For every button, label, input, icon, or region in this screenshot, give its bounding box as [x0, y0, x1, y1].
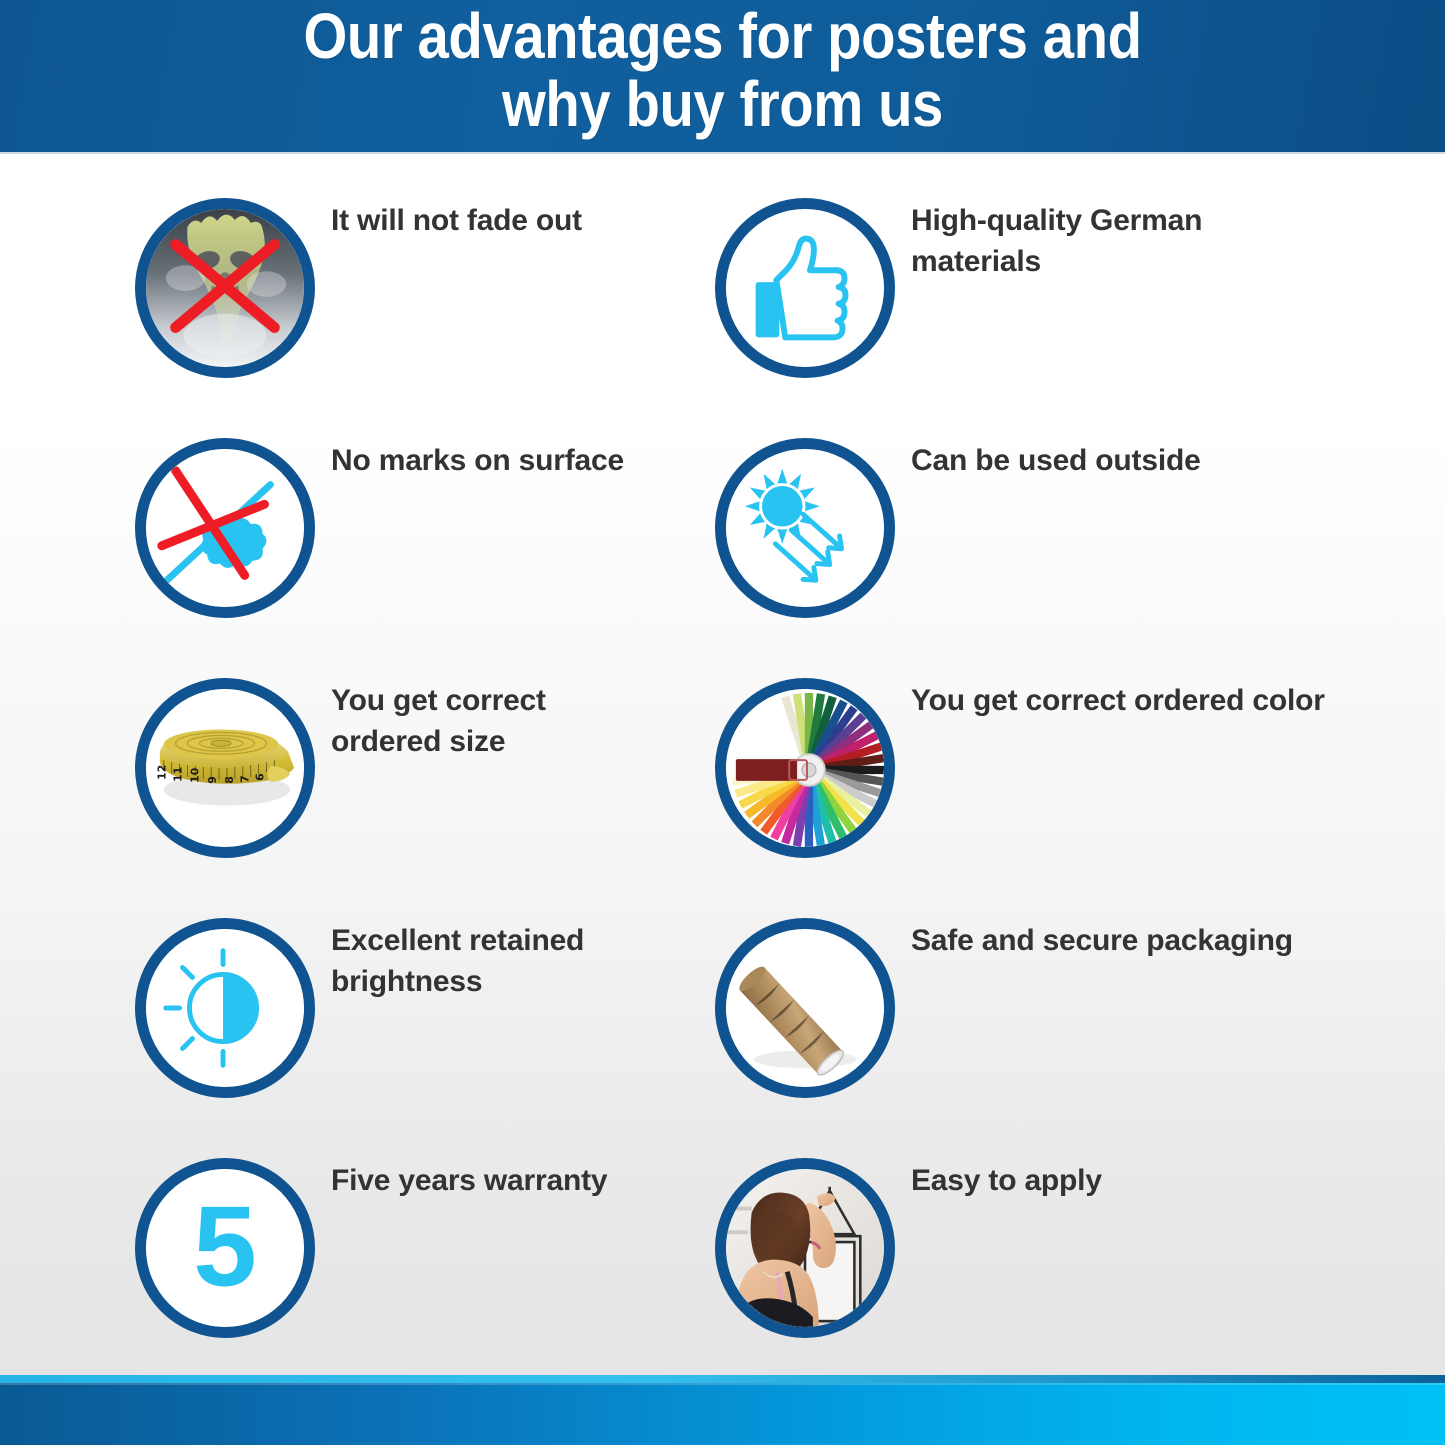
- features-grid: It will not fade out High-quality German…: [0, 152, 1445, 1375]
- feature-label: Safe and secure packaging: [911, 920, 1331, 961]
- feature-item-outside[interactable]: Can be used outside: [715, 428, 1315, 668]
- svg-text:9: 9: [206, 776, 219, 784]
- footer-banner: [0, 1375, 1445, 1445]
- sun-rays-icon: [715, 438, 895, 618]
- measuring-tape-icon: 12 11 10 9 8 7 6: [135, 678, 315, 858]
- footer-hairline: [0, 1383, 1445, 1385]
- feature-item-easy-apply[interactable]: Easy to apply: [715, 1148, 1315, 1388]
- feature-label: High-quality German materials: [911, 200, 1331, 282]
- feature-item-color[interactable]: You get correct ordered color: [715, 668, 1315, 908]
- page-title: Our advantages for posters and why buy f…: [87, 2, 1359, 138]
- header-banner: Our advantages for posters and why buy f…: [0, 0, 1445, 152]
- svg-text:12: 12: [156, 765, 169, 780]
- feature-row: No marks on surface: [0, 428, 1445, 668]
- mailing-tube-icon: [715, 918, 895, 1098]
- feature-item-fade[interactable]: It will not fade out: [135, 188, 735, 428]
- feature-item-warranty[interactable]: 5 Five years warranty: [135, 1148, 735, 1388]
- feature-label: Easy to apply: [911, 1160, 1331, 1201]
- feature-row: Excellent retained brightness: [0, 908, 1445, 1148]
- footer-top-strip: [0, 1375, 1445, 1383]
- feature-label: It will not fade out: [331, 200, 731, 241]
- feature-label: Excellent retained brightness: [331, 920, 731, 1002]
- feature-item-no-marks[interactable]: No marks on surface: [135, 428, 735, 668]
- svg-text:5: 5: [193, 1183, 257, 1311]
- svg-text:7: 7: [239, 775, 252, 783]
- svg-text:10: 10: [188, 767, 201, 783]
- faded-skull-smoke-crossed-out-icon: [135, 198, 315, 378]
- feature-row: It will not fade out High-quality German…: [0, 188, 1445, 428]
- woman-hanging-poster-photo-icon: [715, 1158, 895, 1338]
- feature-item-brightness[interactable]: Excellent retained brightness: [135, 908, 735, 1148]
- thumbs-up-icon: [715, 198, 895, 378]
- svg-text:6: 6: [254, 773, 267, 781]
- feature-label: You get correct ordered size: [331, 680, 731, 762]
- feature-label: Five years warranty: [331, 1160, 731, 1201]
- feature-item-size[interactable]: 12 11 10 9 8 7 6 You get correct: [135, 668, 735, 908]
- feature-item-german-materials[interactable]: High-quality German materials: [715, 188, 1315, 428]
- feature-label: You get correct ordered color: [911, 680, 1331, 721]
- svg-text:8: 8: [223, 776, 236, 784]
- feature-row: 12 11 10 9 8 7 6 You get correct: [0, 668, 1445, 908]
- feature-label: Can be used outside: [911, 440, 1331, 481]
- feature-label: No marks on surface: [331, 440, 731, 481]
- svg-text:11: 11: [172, 767, 185, 782]
- number-five-icon: 5: [135, 1158, 315, 1338]
- brightness-icon: [135, 918, 315, 1098]
- feature-item-packaging[interactable]: Safe and secure packaging: [715, 908, 1315, 1148]
- infographic-page: Our advantages for posters and why buy f…: [0, 0, 1445, 1445]
- no-marks-crossed-out-icon: [135, 438, 315, 618]
- color-fan-deck-icon: [715, 678, 895, 858]
- feature-row: 5 Five years warranty: [0, 1148, 1445, 1388]
